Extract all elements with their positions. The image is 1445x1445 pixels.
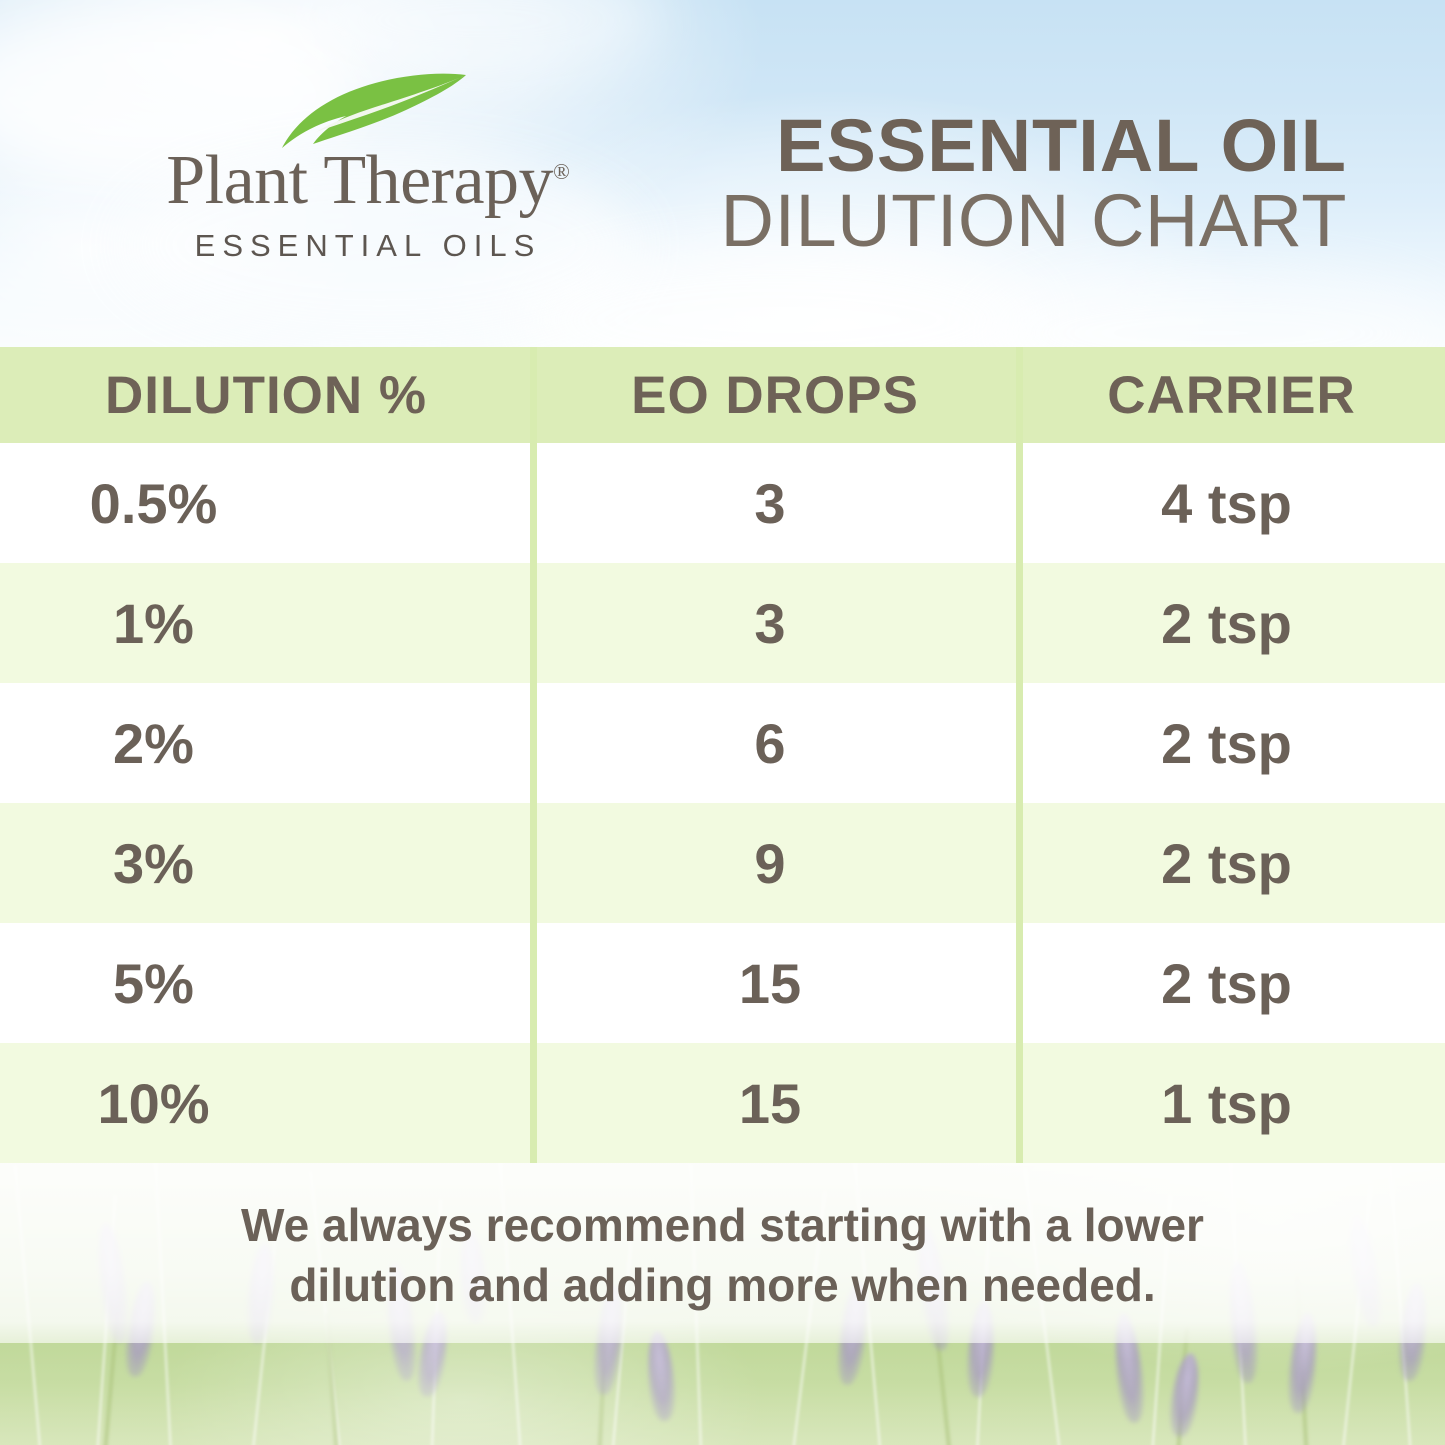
cell-carrier: 1 tsp	[1018, 1043, 1445, 1163]
cell-dilution: 10%	[0, 1043, 532, 1163]
table-header-row: DILUTION % EO DROPS CARRIER	[0, 347, 1445, 443]
footer-note-text: We always recommend starting with a lowe…	[0, 1196, 1445, 1316]
brand-tagline: ESSENTIAL OILS	[88, 230, 648, 261]
cell-dilution: 2%	[0, 683, 532, 803]
column-header-carrier: CARRIER	[1018, 347, 1445, 443]
table-row: 3% 9 2 tsp	[0, 803, 1445, 923]
cell-dilution: 1%	[0, 563, 532, 683]
cell-carrier: 2 tsp	[1018, 923, 1445, 1043]
cell-eo-drops: 15	[532, 1043, 1018, 1163]
cloud-decoration	[980, 268, 1445, 347]
table-row: 10% 15 1 tsp	[0, 1043, 1445, 1163]
cloud-decoration	[300, 0, 660, 80]
cell-dilution: 5%	[0, 923, 532, 1043]
cell-eo-drops: 3	[532, 443, 1018, 563]
brand-logo: Plant Therapy® ESSENTIAL OILS	[88, 72, 648, 272]
title-line-2: DILUTION CHART	[721, 183, 1347, 258]
table-row: 2% 6 2 tsp	[0, 683, 1445, 803]
title-line-1: ESSENTIAL OIL	[721, 110, 1347, 183]
cell-eo-drops: 9	[532, 803, 1018, 923]
dilution-chart-infographic: Plant Therapy® ESSENTIAL OILS ESSENTIAL …	[0, 0, 1445, 1445]
cell-dilution: 3%	[0, 803, 532, 923]
registered-mark: ®	[553, 159, 570, 184]
dilution-table: DILUTION % EO DROPS CARRIER 0.5% 3 4 tsp…	[0, 347, 1445, 1163]
cell-carrier: 2 tsp	[1018, 563, 1445, 683]
column-header-dilution: DILUTION %	[0, 347, 532, 443]
brand-name: Plant Therapy®	[88, 146, 648, 216]
cell-eo-drops: 15	[532, 923, 1018, 1043]
column-header-eo-drops: EO DROPS	[532, 347, 1018, 443]
page-title: ESSENTIAL OIL DILUTION CHART	[721, 110, 1347, 258]
table-row: 0.5% 3 4 tsp	[0, 443, 1445, 563]
cell-dilution: 0.5%	[0, 443, 532, 563]
table-row: 5% 15 2 tsp	[0, 923, 1445, 1043]
cell-carrier: 2 tsp	[1018, 803, 1445, 923]
table-row: 1% 3 2 tsp	[0, 563, 1445, 683]
brand-name-text: Plant Therapy	[166, 142, 553, 219]
cell-eo-drops: 6	[532, 683, 1018, 803]
cell-carrier: 4 tsp	[1018, 443, 1445, 563]
cell-carrier: 2 tsp	[1018, 683, 1445, 803]
leaf-icon	[280, 72, 470, 150]
cell-eo-drops: 3	[532, 563, 1018, 683]
